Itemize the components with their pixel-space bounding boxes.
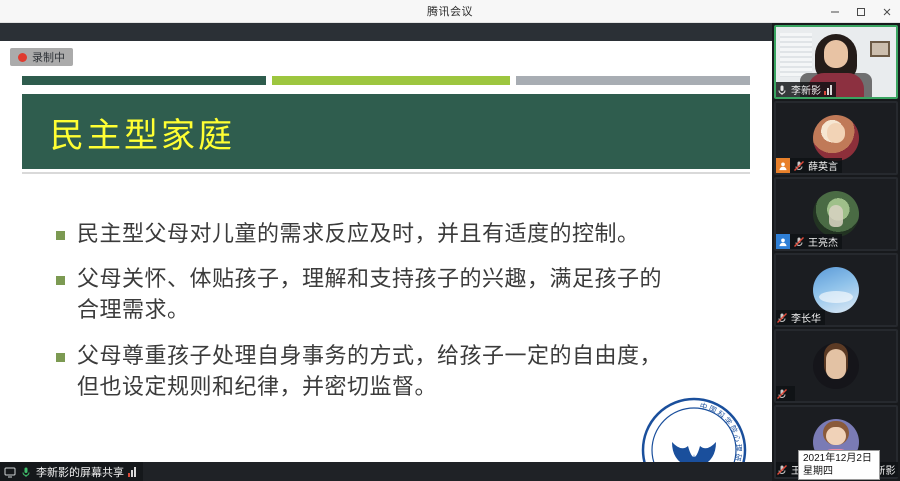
microphone-muted-icon [793, 236, 805, 248]
tencent-meeting-window: 腾讯会议 [0, 0, 900, 481]
minimize-icon [829, 6, 841, 18]
microphone-muted-icon [776, 388, 788, 400]
bullet-text: 民主型父母对儿童的需求反应及时，并且有适度的控制。 [77, 219, 640, 250]
shared-screen-stage[interactable]: 民主型家庭 民主型父母对儿童的需求反应及时，并且有适度的控制。 父母关怀、体贴孩… [0, 23, 772, 481]
participant-rail[interactable]: 李新影 [772, 23, 900, 481]
tooltip-date: 2021年12月2日 [803, 452, 875, 465]
window-title: 腾讯会议 [427, 3, 473, 19]
screen-share-indicator[interactable]: 李新影的屏幕共享 [0, 462, 143, 481]
window-controls [822, 0, 900, 23]
microphone-muted-icon [776, 464, 788, 476]
avatar [813, 343, 859, 389]
minimize-button[interactable] [822, 0, 848, 23]
participant-name: 李长华 [791, 310, 821, 325]
microphone-icon [20, 466, 32, 478]
presentation-slide: 民主型家庭 民主型父母对儿童的需求反应及时，并且有适度的控制。 父母关怀、体贴孩… [0, 41, 772, 466]
slide-title-divider [22, 172, 750, 174]
participant-tile[interactable]: 薛英言 [774, 101, 898, 175]
participant-tile[interactable]: 李长华 [774, 253, 898, 327]
participant-footer [776, 386, 795, 401]
slide-segment-1 [22, 76, 266, 85]
participant-name: 李新影 [791, 82, 821, 97]
recording-label: 录制中 [32, 49, 65, 65]
participant-footer: 李新影 [776, 82, 836, 97]
list-item: 父母尊重孩子处理自身事务的方式，给孩子一定的自由度，但也设定规则和纪律，并密切监… [56, 341, 676, 403]
participant-name: 王亮杰 [808, 234, 838, 249]
person-icon [778, 161, 788, 171]
bullet-text: 父母关怀、体贴孩子，理解和支持孩子的兴趣，满足孩子的合理需求。 [77, 264, 676, 326]
recording-badge[interactable]: 录制中 [10, 48, 73, 66]
bullet-square-icon [56, 231, 65, 240]
stage-taskbar: 李新影的屏幕共享 [0, 462, 772, 481]
avatar [813, 115, 859, 161]
maximize-button[interactable] [848, 0, 874, 23]
date-tooltip: 2021年12月2日 星期四 [798, 450, 880, 480]
participant-footer: 李长华 [776, 310, 825, 325]
slide-bullet-list: 民主型父母对儿童的需求反应及时，并且有适度的控制。 父母关怀、体贴孩子，理解和支… [56, 219, 676, 417]
list-item: 父母关怀、体贴孩子，理解和支持孩子的兴趣，满足孩子的合理需求。 [56, 264, 676, 326]
microphone-icon [776, 84, 788, 96]
bullet-square-icon [56, 353, 65, 362]
participant-footer: 王亮杰 [776, 234, 842, 249]
bullet-text: 父母尊重孩子处理自身事务的方式，给孩子一定的自由度，但也设定规则和纪律，并密切监… [77, 341, 676, 403]
close-button[interactable] [874, 0, 900, 23]
slide-segment-2 [272, 76, 510, 85]
signal-strength-icon [824, 85, 832, 95]
signal-strength-icon [128, 467, 136, 477]
participant-footer: 薛英言 [776, 158, 842, 173]
participant-tile[interactable] [774, 329, 898, 403]
close-icon [881, 6, 893, 18]
avatar [813, 191, 859, 237]
tooltip-weekday: 星期四 [803, 465, 875, 478]
member-badge [776, 234, 790, 249]
institute-logo: 中国科学院心理研究所 INSTITUTE OF PSYCHOLOGY, CAS … [640, 396, 748, 466]
host-badge [776, 158, 790, 173]
slide-title: 民主型家庭 [50, 108, 235, 157]
slide-segment-bars [22, 76, 750, 85]
slide-title-banner: 民主型家庭 [22, 94, 750, 169]
participant-tile[interactable]: 王亮杰 [774, 177, 898, 251]
screen-share-label: 李新影的屏幕共享 [36, 464, 124, 480]
avatar [813, 267, 859, 313]
list-item: 民主型父母对儿童的需求反应及时，并且有适度的控制。 [56, 219, 676, 250]
participant-name: 薛英言 [808, 158, 838, 173]
bullet-square-icon [56, 276, 65, 285]
maximize-icon [855, 6, 867, 18]
recording-dot-icon [18, 53, 27, 62]
microphone-muted-icon [776, 312, 788, 324]
participant-tile[interactable]: 李新影 [774, 25, 898, 99]
title-bar: 腾讯会议 [0, 0, 900, 23]
slide-segment-3 [516, 76, 750, 85]
person-icon [778, 237, 788, 247]
institute-of-psychology-cas-logo-icon: 中国科学院心理研究所 INSTITUTE OF PSYCHOLOGY, CAS … [640, 396, 748, 466]
microphone-muted-icon [793, 160, 805, 172]
monitor-icon [4, 466, 16, 478]
